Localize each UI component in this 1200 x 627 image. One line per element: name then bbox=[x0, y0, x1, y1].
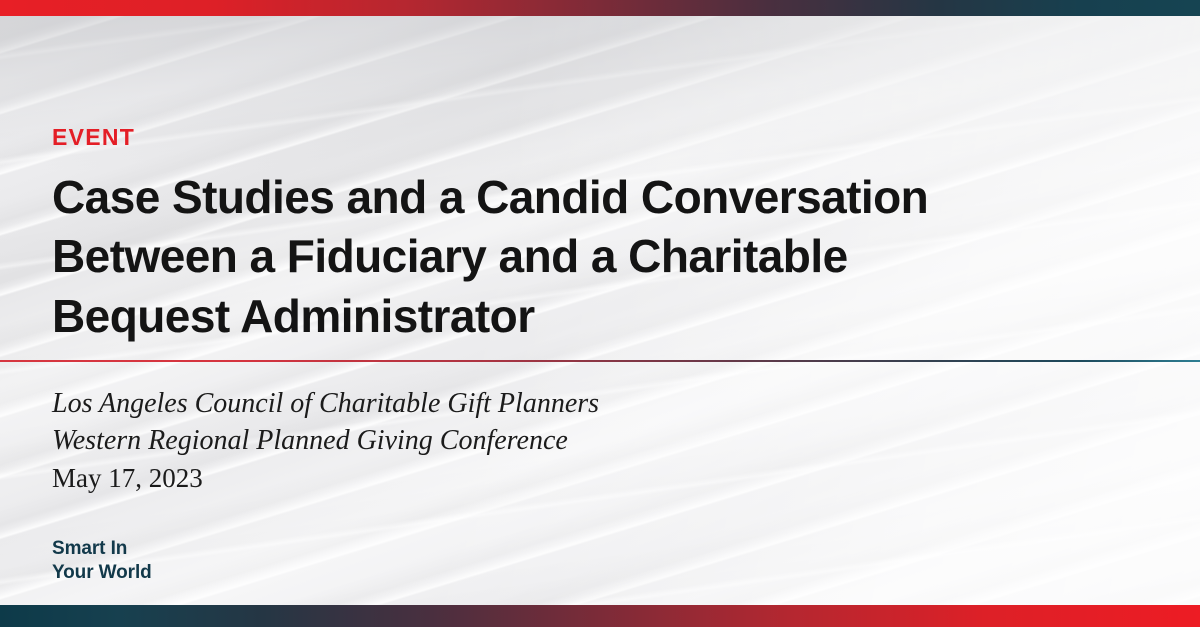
brand-tagline: Smart In Your World bbox=[52, 537, 152, 586]
brand-tagline-line-2: Your World bbox=[52, 561, 152, 585]
event-details: Los Angeles Council of Charitable Gift P… bbox=[52, 385, 599, 497]
brand-tagline-line-1: Smart In bbox=[52, 537, 152, 561]
event-banner: EVENT Case Studies and a Candid Conversa… bbox=[0, 0, 1200, 627]
page-title-line-3: Bequest Administrator bbox=[52, 287, 1162, 346]
organization-name: Los Angeles Council of Charitable Gift P… bbox=[52, 385, 599, 422]
conference-name: Western Regional Planned Giving Conferen… bbox=[52, 422, 599, 459]
page-title: Case Studies and a Candid Conversation B… bbox=[52, 168, 1162, 346]
event-type-label: EVENT bbox=[52, 126, 135, 149]
event-date: May 17, 2023 bbox=[52, 461, 599, 497]
banner-content: EVENT Case Studies and a Candid Conversa… bbox=[0, 0, 1200, 627]
page-title-line-2: Between a Fiduciary and a Charitable bbox=[52, 227, 1162, 286]
page-title-line-1: Case Studies and a Candid Conversation bbox=[52, 168, 1162, 227]
